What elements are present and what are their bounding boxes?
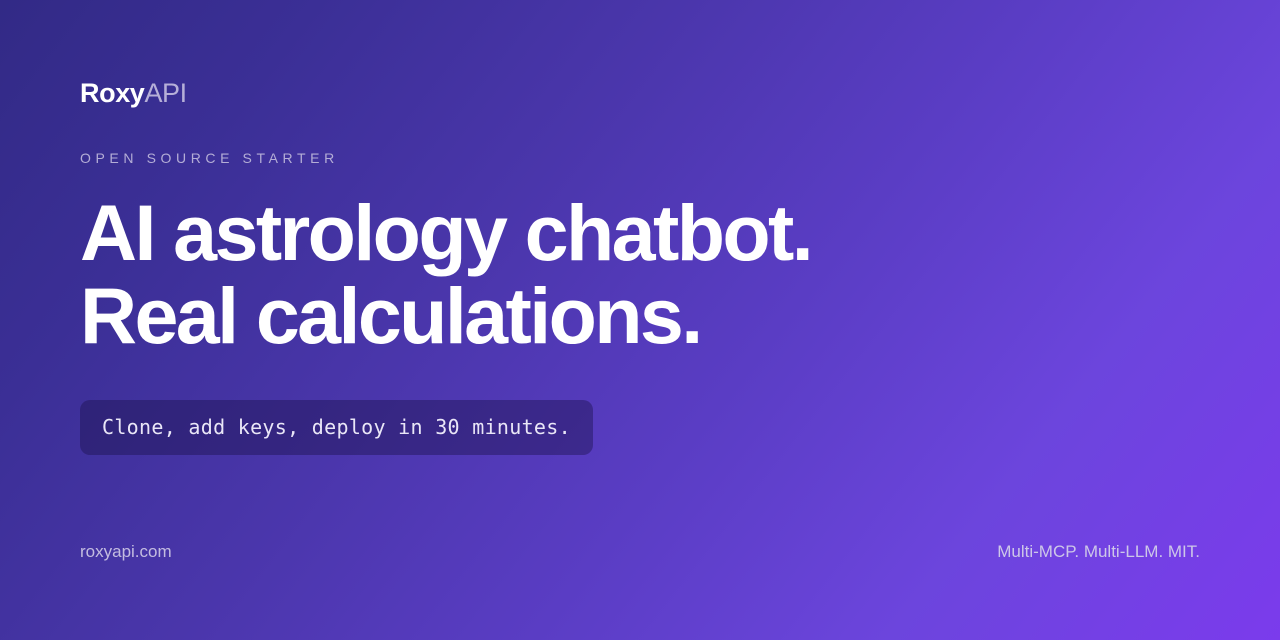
banner-footer: roxyapi.com Multi-MCP. Multi-LLM. MIT. xyxy=(80,543,1200,560)
hero-eyebrow: OPEN SOURCE STARTER xyxy=(80,151,1200,165)
hero-headline-line-2: Real calculations. xyxy=(80,275,1200,358)
brand-logo-mark: Roxy xyxy=(80,78,144,108)
footer-site-url[interactable]: roxyapi.com xyxy=(80,543,172,560)
footer-tagline: Multi-MCP. Multi-LLM. MIT. xyxy=(997,543,1200,560)
brand-logo-suffix: API xyxy=(144,78,186,108)
code-badge: Clone, add keys, deploy in 30 minutes. xyxy=(80,400,593,455)
hero-headline-line-1: AI astrology chatbot. xyxy=(80,192,1200,275)
code-badge-row: Clone, add keys, deploy in 30 minutes. xyxy=(80,400,1200,455)
hero-headline: AI astrology chatbot. Real calculations. xyxy=(80,192,1200,358)
brand-logo[interactable]: RoxyAPI xyxy=(80,80,1200,107)
promo-banner: RoxyAPI OPEN SOURCE STARTER AI astrology… xyxy=(0,0,1280,640)
